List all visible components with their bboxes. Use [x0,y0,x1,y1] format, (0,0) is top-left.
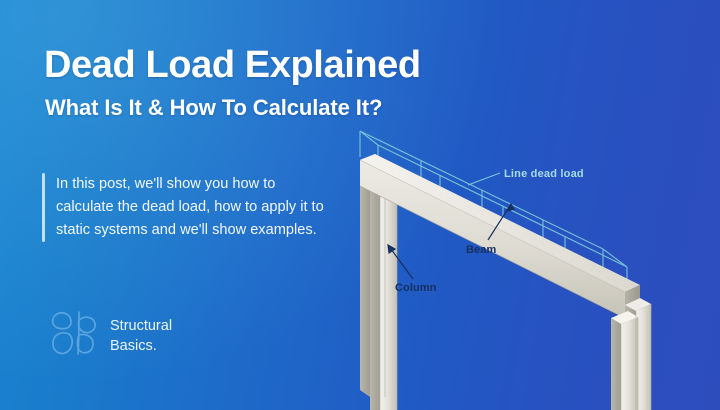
page-subtitle: What Is It & How To Calculate It? [45,95,382,121]
label-line-dead-load: Line dead load [504,168,584,180]
portal-frame-diagram: Line dead load Beam Column [340,125,720,410]
brand-logo: Structural Basics. [48,306,172,366]
brand-name: Structural Basics. [110,316,172,356]
intro-block: In this post, we'll show you how to calc… [42,173,334,242]
slide-canvas: Dead Load Explained What Is It & How To … [0,0,720,410]
brand-name-line1: Structural [110,316,172,336]
intro-paragraph: In this post, we'll show you how to calc… [56,173,334,242]
page-title: Dead Load Explained [44,44,421,87]
label-column: Column [395,282,437,294]
label-beam: Beam [466,244,496,256]
accent-bar [42,173,45,242]
sb-monogram-icon [48,306,102,366]
column-right [611,298,651,410]
brand-name-line2: Basics. [110,336,172,356]
